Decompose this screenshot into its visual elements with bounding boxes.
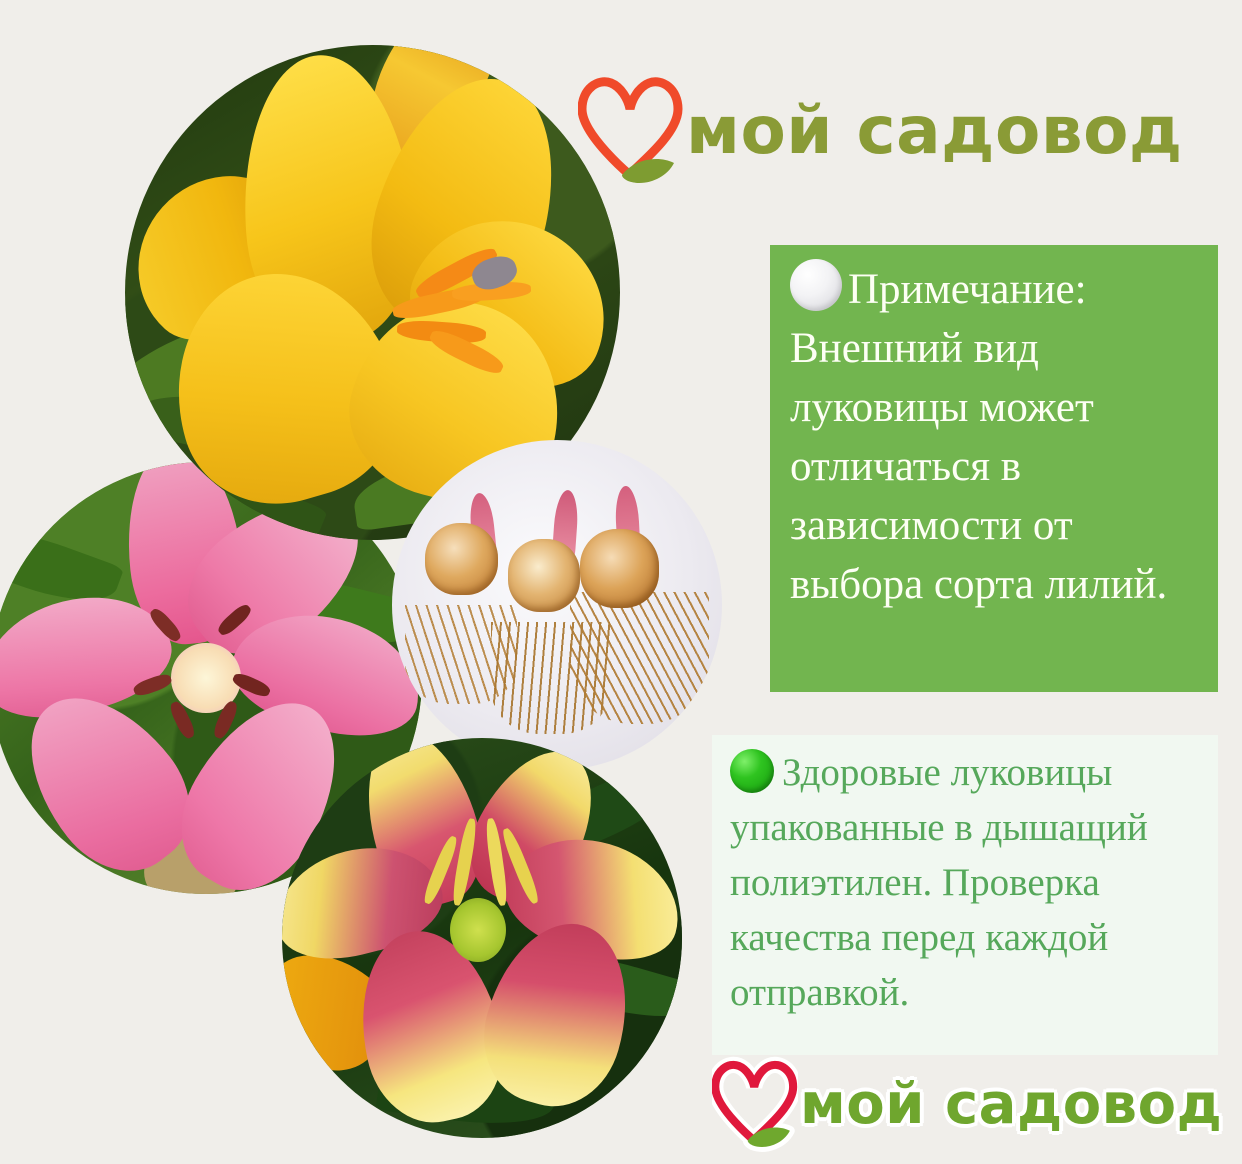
logo-mark — [578, 71, 684, 189]
logo-top-wordmark: мой садовод — [686, 92, 1183, 169]
note-green-text: Примечание: Внешний вид луковицы может о… — [790, 259, 1200, 614]
logo-bottom-wordmark: мой садовод — [800, 1072, 1222, 1137]
note-green-heading: Примечание: — [848, 266, 1087, 313]
logo-bottom[interactable]: мой садовод — [712, 1048, 1232, 1160]
heart-leaf-logo-svg — [578, 71, 684, 189]
leaf-icon — [622, 159, 674, 183]
note-mint-body: Здоровые луковицы упакованные в дышащий … — [730, 751, 1148, 1014]
note-mint-text: Здоровые луковицы упакованные в дышащий … — [730, 745, 1204, 1020]
green-circle-bullet-icon — [730, 749, 774, 793]
collage-canvas: мой садовод Примечание: Внешний вид луко… — [0, 0, 1242, 1164]
logo-mark — [712, 1056, 798, 1152]
lily-bulb — [508, 539, 581, 612]
note-green-box: Примечание: Внешний вид луковицы может о… — [770, 245, 1218, 692]
photo-lily-bulbs[interactable] — [392, 440, 722, 770]
lily-center — [450, 898, 506, 962]
note-mint-box: Здоровые луковицы упакованные в дышащий … — [712, 735, 1218, 1055]
lily-bulb — [580, 529, 659, 608]
photo-red-yellow-lily[interactable] — [282, 738, 682, 1138]
heart-leaf-logo-svg — [712, 1056, 798, 1152]
note-green-body: Внешний вид луковицы может отличаться в … — [790, 325, 1167, 608]
lily-bulb — [425, 523, 498, 596]
bulb-roots — [570, 592, 709, 724]
logo-top[interactable]: мой садовод — [578, 55, 1238, 205]
white-circle-bullet-icon — [790, 259, 842, 311]
